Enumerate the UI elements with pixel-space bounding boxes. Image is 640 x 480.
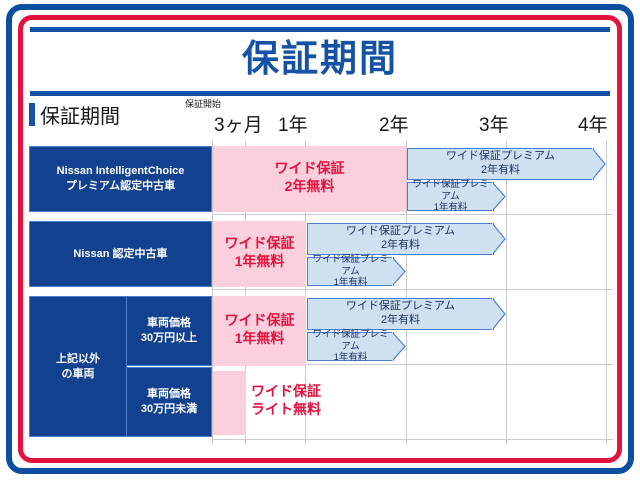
axis-tick-3year: 3年 xyxy=(479,110,509,137)
gridline-3year xyxy=(506,141,507,444)
axis-tick-1year: 1年 xyxy=(278,110,308,137)
paid-arrow-row1-1year-line2: 1年有料 xyxy=(434,202,468,214)
category-cell-nissan-certified: Nissan 認定中古車 xyxy=(29,221,212,287)
free-warranty-label-row1-line2: 2年無料 xyxy=(213,178,406,196)
arrow-tip-icon xyxy=(392,257,406,286)
free-warranty-label-row3-line2: 1年無料 xyxy=(213,330,306,348)
free-warranty-label-row4: ワイド保証 ライト無料 xyxy=(251,383,371,418)
category-label-row3-line1: 上記以外 xyxy=(56,352,100,367)
paid-warranty-arrow-row1-1year: ワイド保証プレミアム 1年有料 xyxy=(407,182,494,211)
subcategory-label-row4-line2: 30万円未満 xyxy=(141,402,197,417)
category-label-row2: Nissan 認定中古車 xyxy=(73,247,167,262)
free-warranty-label-row2: ワイド保証 1年無料 xyxy=(213,235,306,270)
free-warranty-label-row3: ワイド保証 1年無料 xyxy=(213,312,306,347)
axis-tick-3months: 3ヶ月 xyxy=(214,110,263,137)
free-warranty-label-row3-line1: ワイド保証 xyxy=(213,312,306,330)
subcategory-cell-under-300k: 車両価格 30万円未満 xyxy=(126,367,212,437)
paid-arrow-row3-2year-line1: ワイド保証プレミアム xyxy=(346,300,455,314)
free-warranty-label-row1-line1: ワイド保証 xyxy=(213,160,406,178)
paid-arrow-row1-2year-line2: 2年有料 xyxy=(481,164,520,178)
paid-arrow-row3-1year-line2: 1年有料 xyxy=(334,352,368,364)
page-title: 保証期間 xyxy=(27,30,613,88)
paid-arrow-row2-1year-line1: ワイド保証プレミアム xyxy=(308,254,393,278)
arrow-tip-icon xyxy=(492,223,506,255)
subcategory-label-row3-line1: 車両価格 xyxy=(147,316,191,331)
content-sheet: 保証期間 保証期間 保証開始 3ヶ月 1年 2年 3年 4年 xyxy=(27,24,613,454)
subcategory-label-row4-line1: 車両価格 xyxy=(147,387,191,402)
free-warranty-label-row2-line1: ワイド保証 xyxy=(213,235,306,253)
free-warranty-label-row4-line1: ワイド保証 xyxy=(251,383,371,401)
paid-warranty-arrow-row3-2year: ワイド保証プレミアム 2年有料 xyxy=(307,298,494,330)
row-separator-4 xyxy=(212,439,613,440)
paid-warranty-arrow-row3-1year: ワイド保証プレミアム 1年有料 xyxy=(307,332,394,361)
paid-arrow-row2-2year-line1: ワイド保証プレミアム xyxy=(346,225,455,239)
axis-tick-2year: 2年 xyxy=(379,110,409,137)
free-warranty-label-row1: ワイド保証 2年無料 xyxy=(213,160,406,195)
chart-plot-area: Nissan IntelligentChoice プレミアム認定中古車 ワイド保… xyxy=(27,141,613,444)
free-warranty-label-row2-line2: 1年無料 xyxy=(213,253,306,271)
category-cell-other-vehicles: 上記以外 の車両 xyxy=(29,296,127,437)
arrow-tip-icon xyxy=(492,182,506,211)
gridline-4year xyxy=(606,141,607,444)
subcategory-label-row3-line2: 30万円以上 xyxy=(141,331,197,346)
category-label-line1: Nissan IntelligentChoice xyxy=(57,164,185,179)
row-separator-2 xyxy=(212,289,613,290)
paid-warranty-arrow-row2-2year: ワイド保証プレミアム 2年有料 xyxy=(307,223,494,255)
warranty-start-note: 保証開始 xyxy=(185,97,221,110)
timeline-axis: 3ヶ月 1年 2年 3年 4年 xyxy=(27,110,613,140)
arrow-tip-icon xyxy=(592,148,606,180)
paid-warranty-arrow-row2-1year: ワイド保証プレミアム 1年有料 xyxy=(307,257,394,286)
category-label-row3-line2: の車両 xyxy=(62,367,95,382)
free-warranty-bar-row4 xyxy=(213,371,246,435)
subcategory-cell-over-300k: 車両価格 30万円以上 xyxy=(126,296,212,366)
title-rule-bottom xyxy=(30,91,610,96)
row-separator-1 xyxy=(212,214,613,215)
arrow-tip-icon xyxy=(392,332,406,361)
paid-arrow-row2-2year-line2: 2年有料 xyxy=(381,239,420,253)
paid-arrow-row3-1year-line1: ワイド保証プレミアム xyxy=(308,329,393,353)
paid-warranty-arrow-row1-2year: ワイド保証プレミアム 2年有料 xyxy=(407,148,594,180)
paid-arrow-row1-1year-line1: ワイド保証プレミアム xyxy=(408,179,493,203)
paid-arrow-row1-2year-line1: ワイド保証プレミアム xyxy=(446,150,555,164)
warranty-period-infographic: 保証期間 保証期間 保証開始 3ヶ月 1年 2年 3年 4年 xyxy=(0,0,640,480)
category-label-line2: プレミアム認定中古車 xyxy=(66,179,175,194)
paid-arrow-row2-1year-line2: 1年有料 xyxy=(334,277,368,289)
arrow-tip-icon xyxy=(492,298,506,330)
free-warranty-label-row4-line2: ライト無料 xyxy=(251,401,371,419)
category-cell-intelligent-choice: Nissan IntelligentChoice プレミアム認定中古車 xyxy=(29,146,212,212)
axis-tick-4year: 4年 xyxy=(578,110,608,137)
paid-arrow-row3-2year-line2: 2年有料 xyxy=(381,314,420,328)
